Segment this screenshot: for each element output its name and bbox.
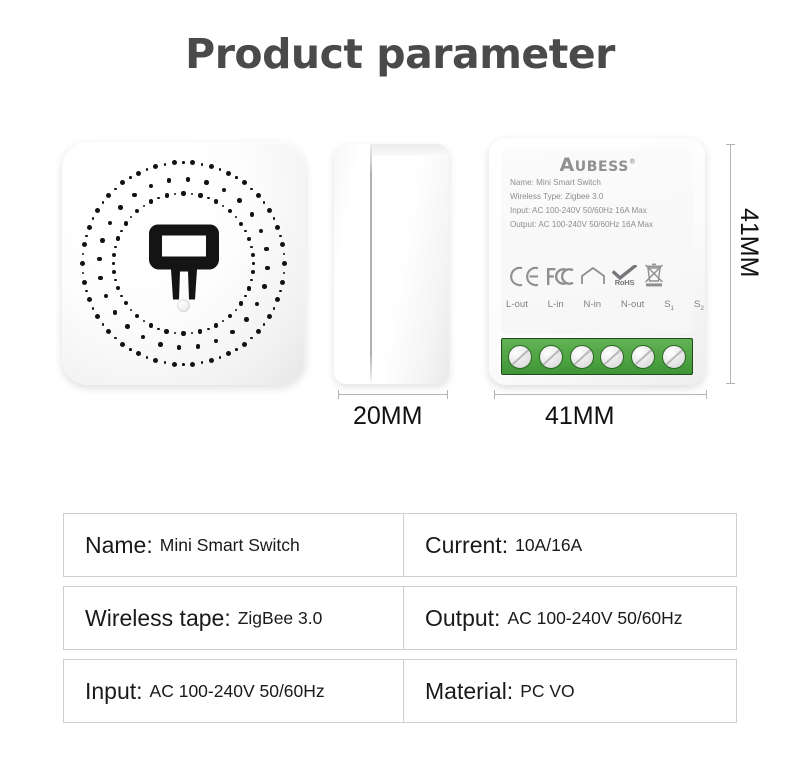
table-row: Input: AC 100-240V 50/60Hz Material: PC … bbox=[63, 659, 738, 723]
screw-terminal bbox=[539, 345, 563, 369]
pattern-dot bbox=[157, 328, 159, 330]
screw-terminal bbox=[508, 345, 532, 369]
pattern-dot bbox=[250, 212, 255, 217]
product-image-group: AUBESS® Name: Mini Smart Switch Wireless… bbox=[0, 130, 800, 450]
pattern-dot bbox=[82, 272, 85, 275]
pattern-dot bbox=[250, 279, 252, 281]
pattern-dot bbox=[112, 270, 116, 274]
spec-value: AC 100-240V 50/60Hz bbox=[507, 608, 682, 629]
led-indicator bbox=[177, 299, 190, 312]
house-icon bbox=[580, 266, 606, 286]
pattern-dot bbox=[204, 180, 209, 185]
pattern-dot bbox=[186, 177, 191, 182]
spec-value: PC VO bbox=[520, 681, 574, 702]
plug-icon bbox=[145, 215, 223, 312]
pattern-dot bbox=[283, 253, 286, 256]
pattern-dot bbox=[226, 171, 231, 176]
pattern-dot bbox=[190, 362, 195, 367]
pattern-dot bbox=[275, 297, 280, 302]
spec-cell-output: Output: AC 100-240V 50/60Hz bbox=[403, 586, 737, 650]
pattern-dot bbox=[124, 301, 128, 305]
pattern-dot bbox=[95, 314, 100, 319]
pattern-dot bbox=[265, 266, 270, 271]
pattern-dot bbox=[174, 332, 176, 334]
pattern-dot bbox=[273, 307, 276, 310]
pattern-dot bbox=[129, 348, 132, 351]
product-label: AUBESS® Name: Mini Smart Switch Wireless… bbox=[501, 149, 693, 334]
spec-key: Output: bbox=[425, 605, 500, 632]
pattern-dot bbox=[92, 307, 95, 310]
pattern-dot bbox=[116, 286, 120, 290]
pattern-dot bbox=[80, 261, 85, 266]
ce-mark-icon bbox=[509, 266, 541, 287]
pattern-dot bbox=[209, 164, 214, 169]
pattern-dot bbox=[125, 324, 130, 329]
pattern-dot bbox=[112, 262, 114, 264]
table-row: Name: Mini Smart Switch Current: 10A/16A bbox=[63, 513, 738, 577]
pattern-dot bbox=[172, 160, 177, 165]
spec-cell-name: Name: Mini Smart Switch bbox=[63, 513, 404, 577]
pattern-dot bbox=[149, 323, 153, 327]
pattern-dot bbox=[135, 314, 139, 318]
pattern-dot bbox=[235, 176, 238, 179]
pattern-dot bbox=[174, 193, 176, 195]
pattern-dot bbox=[164, 163, 167, 166]
pattern-dot bbox=[244, 230, 246, 232]
pattern-dot bbox=[114, 246, 116, 248]
pattern-dot bbox=[114, 279, 116, 281]
pattern-dot bbox=[113, 310, 118, 315]
pattern-dot bbox=[251, 270, 255, 274]
pattern-dot bbox=[219, 168, 222, 171]
terminal-label-n-out: N-out bbox=[621, 299, 644, 310]
pattern-dot bbox=[177, 345, 182, 350]
specification-table: Name: Mini Smart Switch Current: 10A/16A… bbox=[63, 513, 738, 723]
pattern-dot bbox=[259, 229, 264, 234]
pattern-dot bbox=[97, 257, 102, 262]
page-title: Product parameter bbox=[0, 30, 800, 78]
pattern-dot bbox=[108, 221, 113, 226]
pattern-dot bbox=[250, 188, 253, 191]
pattern-dot bbox=[120, 180, 125, 185]
pattern-dot bbox=[201, 361, 204, 364]
pattern-dot bbox=[136, 351, 141, 356]
pattern-dot bbox=[135, 209, 139, 213]
pattern-dot bbox=[100, 238, 105, 243]
pattern-dot bbox=[214, 339, 219, 344]
side-top-notch bbox=[370, 144, 449, 156]
dimension-label-41mm-height: 41MM bbox=[734, 208, 763, 277]
pattern-dot bbox=[247, 286, 251, 290]
pattern-dot bbox=[280, 242, 285, 247]
pattern-dot bbox=[191, 332, 193, 334]
pattern-dot bbox=[263, 201, 266, 204]
pattern-dot bbox=[237, 198, 242, 203]
pattern-dot bbox=[132, 193, 137, 198]
pattern-dot bbox=[118, 205, 123, 210]
pattern-dot bbox=[201, 163, 204, 166]
pattern-dot bbox=[282, 261, 287, 266]
pattern-dot bbox=[219, 356, 222, 359]
pattern-dot bbox=[196, 344, 201, 349]
pattern-dot bbox=[190, 160, 195, 165]
label-line-wireless: Wireless Type: Zigbee 3.0 bbox=[510, 190, 686, 204]
pattern-dot bbox=[149, 184, 154, 189]
certification-row: RoHS bbox=[509, 259, 701, 293]
pattern-dot bbox=[104, 294, 109, 299]
pattern-dot bbox=[98, 276, 103, 281]
pattern-dot bbox=[275, 225, 280, 230]
spec-cell-wireless-tape: Wireless tape: ZigBee 3.0 bbox=[63, 586, 404, 650]
pattern-dot bbox=[226, 351, 231, 356]
pattern-dot bbox=[143, 205, 145, 207]
pattern-dot bbox=[255, 302, 260, 307]
pattern-dot bbox=[239, 222, 243, 226]
pattern-dot bbox=[153, 358, 158, 363]
pattern-dot bbox=[120, 295, 122, 297]
screw-terminal bbox=[600, 345, 624, 369]
weee-bin-icon bbox=[643, 263, 665, 289]
pattern-dot bbox=[92, 217, 95, 220]
product-parameter-page: Product parameter AUBESS® Name: Mini bbox=[0, 0, 800, 769]
dimension-line-side-width bbox=[338, 394, 448, 395]
pattern-dot bbox=[209, 358, 214, 363]
pattern-dot bbox=[250, 337, 253, 340]
pattern-dot bbox=[136, 171, 141, 176]
terminal-label-row: L-out L-in N-in N-out S1 S2 bbox=[506, 299, 704, 312]
terminal-block bbox=[501, 338, 693, 375]
pattern-dot bbox=[164, 361, 167, 364]
spec-key: Current: bbox=[425, 532, 508, 559]
screw-terminal bbox=[662, 345, 686, 369]
pattern-dot bbox=[198, 329, 202, 333]
spec-value: AC 100-240V 50/60Hz bbox=[150, 681, 325, 702]
pattern-dot bbox=[82, 280, 87, 285]
spec-key: Material: bbox=[425, 678, 513, 705]
pattern-dot bbox=[114, 337, 117, 340]
pattern-dot bbox=[114, 188, 117, 191]
pattern-dot bbox=[106, 329, 111, 334]
pattern-dot bbox=[181, 331, 185, 335]
dimension-label-41mm-width: 41MM bbox=[545, 402, 614, 431]
pattern-dot bbox=[130, 309, 132, 311]
spec-key: Wireless tape: bbox=[85, 605, 231, 632]
pattern-dot bbox=[141, 335, 146, 340]
pattern-dot bbox=[116, 236, 120, 240]
product-front-view: AUBESS® Name: Mini Smart Switch Wireless… bbox=[489, 138, 705, 385]
product-side-view bbox=[334, 144, 449, 384]
pattern-dot bbox=[106, 193, 111, 198]
label-line-name: Name: Mini Smart Switch bbox=[510, 176, 686, 190]
pattern-dot bbox=[214, 323, 218, 327]
pattern-dot bbox=[143, 320, 145, 322]
pattern-dot bbox=[129, 176, 132, 179]
spec-cell-material: Material: PC VO bbox=[403, 659, 737, 723]
pattern-dot bbox=[228, 314, 232, 318]
pattern-dot bbox=[235, 348, 238, 351]
pattern-dot bbox=[222, 320, 224, 322]
terminal-label-n-in: N-in bbox=[583, 299, 601, 310]
pattern-dot bbox=[87, 297, 92, 302]
pattern-dot bbox=[102, 201, 105, 204]
brand-logo: AUBESS® bbox=[510, 156, 686, 176]
pattern-dot bbox=[242, 180, 247, 185]
dimension-label-20mm: 20MM bbox=[353, 402, 422, 431]
pattern-dot bbox=[242, 342, 247, 347]
pattern-dot bbox=[244, 317, 249, 322]
dimension-line-front-height bbox=[730, 144, 731, 384]
pattern-dot bbox=[82, 242, 87, 247]
pattern-dot bbox=[82, 253, 85, 256]
pattern-dot bbox=[167, 178, 172, 183]
pattern-dot bbox=[252, 262, 254, 264]
fcc-mark-icon bbox=[547, 266, 574, 287]
pattern-dot bbox=[198, 193, 202, 197]
pattern-dot bbox=[235, 309, 237, 311]
pattern-dot bbox=[85, 235, 88, 238]
terminal-label-l-in: L-in bbox=[548, 299, 564, 310]
pattern-dot bbox=[182, 363, 185, 366]
spec-value: ZigBee 3.0 bbox=[238, 608, 323, 629]
rohs-label: RoHS bbox=[615, 279, 635, 287]
pattern-dot bbox=[157, 197, 159, 199]
pattern-dot bbox=[228, 209, 232, 213]
pattern-dot bbox=[87, 225, 92, 230]
spec-key: Input: bbox=[85, 678, 143, 705]
dimension-line-front-width bbox=[494, 394, 707, 395]
pattern-dot bbox=[263, 323, 266, 326]
pattern-dot bbox=[251, 253, 255, 257]
pattern-dot bbox=[214, 199, 218, 203]
spec-key: Name: bbox=[85, 532, 153, 559]
pattern-dot bbox=[279, 235, 282, 238]
pattern-dot bbox=[181, 191, 185, 195]
screw-terminal bbox=[570, 345, 594, 369]
table-row: Wireless tape: ZigBee 3.0 Output: AC 100… bbox=[63, 586, 738, 650]
pattern-dot bbox=[256, 193, 261, 198]
pattern-dot bbox=[124, 221, 128, 225]
pattern-dot bbox=[239, 301, 243, 305]
pattern-dot bbox=[283, 272, 286, 275]
pattern-dot bbox=[172, 362, 177, 367]
product-top-view bbox=[62, 142, 305, 385]
terminal-label-s2: S2 bbox=[694, 299, 704, 312]
pattern-dot bbox=[191, 193, 193, 195]
pattern-dot bbox=[230, 330, 235, 335]
pattern-dot bbox=[153, 164, 158, 169]
pattern-dot bbox=[262, 284, 267, 289]
pattern-dot bbox=[222, 188, 227, 193]
pattern-dot bbox=[164, 329, 168, 333]
pattern-dot bbox=[158, 342, 163, 347]
terminal-label-l-out: L-out bbox=[506, 299, 528, 310]
pattern-dot bbox=[130, 216, 132, 218]
pattern-dot bbox=[146, 356, 149, 359]
side-seam-line bbox=[370, 146, 372, 382]
pattern-dot bbox=[222, 205, 224, 207]
pattern-dot bbox=[273, 217, 276, 220]
pattern-dot bbox=[244, 295, 246, 297]
pattern-dot bbox=[264, 247, 269, 252]
spec-cell-input: Input: AC 100-240V 50/60Hz bbox=[63, 659, 404, 723]
label-line-output: Output: AC 100-240V 50/60Hz 16A Max bbox=[510, 218, 686, 232]
spec-cell-current: Current: 10A/16A bbox=[403, 513, 737, 577]
screw-terminal bbox=[631, 345, 655, 369]
pattern-dot bbox=[85, 290, 88, 293]
pattern-dot bbox=[112, 253, 116, 257]
pattern-dot bbox=[256, 329, 261, 334]
pattern-dot bbox=[235, 216, 237, 218]
pattern-dot bbox=[95, 208, 100, 213]
pattern-dot bbox=[165, 193, 169, 197]
pattern-dot bbox=[207, 197, 209, 199]
pattern-dot bbox=[120, 342, 125, 347]
pattern-dot bbox=[207, 328, 209, 330]
brand-name: AUBESS bbox=[559, 154, 628, 176]
pattern-dot bbox=[102, 323, 105, 326]
pattern-dot bbox=[280, 280, 285, 285]
pattern-dot bbox=[182, 161, 185, 164]
spec-value: 10A/16A bbox=[515, 535, 582, 556]
terminal-label-s1: S1 bbox=[664, 299, 674, 312]
pattern-dot bbox=[250, 246, 252, 248]
pattern-dot bbox=[149, 199, 153, 203]
pattern-dot bbox=[279, 290, 282, 293]
label-line-input: Input: AC 100-240V 50/60Hz 16A Max bbox=[510, 204, 686, 218]
spec-value: Mini Smart Switch bbox=[160, 535, 300, 556]
pattern-dot bbox=[267, 208, 272, 213]
pattern-dot bbox=[247, 237, 251, 241]
pattern-dot bbox=[120, 230, 122, 232]
pattern-dot bbox=[267, 314, 272, 319]
rohs-mark-icon: RoHS bbox=[612, 265, 637, 287]
pattern-dot bbox=[146, 168, 149, 171]
registered-trademark-icon: ® bbox=[629, 158, 637, 166]
